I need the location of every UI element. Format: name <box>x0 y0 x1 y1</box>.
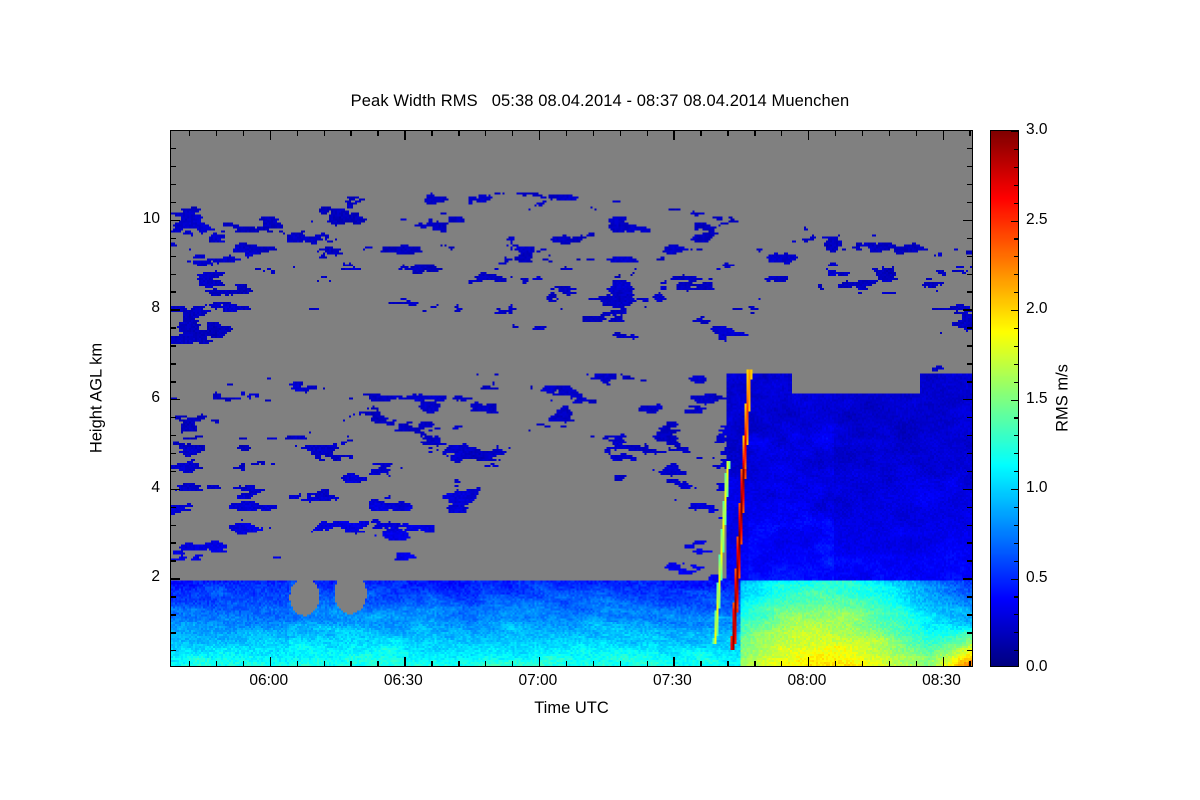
y-tick-label: 6 <box>151 389 160 407</box>
x-minor-tick-top <box>593 131 594 136</box>
y-minor-tick-right <box>967 202 972 203</box>
colorbar[interactable] <box>990 130 1019 667</box>
y-minor-tick <box>171 614 176 615</box>
colorbar-tick-label: 0.5 <box>1026 569 1048 587</box>
x-minor-tick-top <box>916 131 917 136</box>
y-tick-label: 10 <box>143 210 160 228</box>
x-major-tick <box>673 657 674 666</box>
x-tick-label: 07:00 <box>518 672 557 690</box>
x-major-tick <box>943 657 944 666</box>
colorbar-minor-tick <box>1014 185 1018 186</box>
y-minor-tick <box>171 327 176 328</box>
x-tick-label: 08:30 <box>922 672 961 690</box>
x-minor-tick-top <box>862 131 863 136</box>
y-minor-tick-right <box>967 327 972 328</box>
x-minor-tick-top <box>189 131 190 136</box>
x-minor-tick-top <box>647 131 648 136</box>
x-minor-tick-top <box>889 131 890 136</box>
x-minor-tick-top <box>620 131 621 136</box>
colorbar-tick-label: 2.5 <box>1026 211 1048 229</box>
colorbar-minor-tick <box>1014 364 1018 365</box>
y-minor-tick <box>171 381 176 382</box>
colorbar-minor-tick <box>1014 543 1018 544</box>
y-minor-tick-right <box>967 291 972 292</box>
y-minor-tick <box>171 274 176 275</box>
x-minor-tick <box>324 661 325 666</box>
colorbar-minor-tick <box>1014 614 1018 615</box>
x-major-tick <box>404 657 405 666</box>
y-minor-tick <box>171 238 176 239</box>
y-major-tick-right <box>963 578 972 579</box>
colorbar-minor-tick <box>1014 435 1018 436</box>
x-minor-tick-top <box>458 131 459 136</box>
colorbar-major-tick <box>1011 579 1018 580</box>
y-minor-tick-right <box>967 345 972 346</box>
y-minor-tick <box>171 560 176 561</box>
y-axis-label: Height AGL km <box>88 343 107 453</box>
x-minor-tick <box>377 661 378 666</box>
colorbar-minor-tick <box>1014 382 1018 383</box>
y-minor-tick <box>171 471 176 472</box>
colorbar-minor-tick <box>1014 417 1018 418</box>
x-major-tick-top <box>943 131 944 140</box>
x-major-tick-top <box>673 131 674 140</box>
x-minor-tick <box>216 661 217 666</box>
y-minor-tick <box>171 202 176 203</box>
y-minor-tick-right <box>967 614 972 615</box>
y-minor-tick <box>171 650 176 651</box>
y-minor-tick <box>171 345 176 346</box>
y-minor-tick <box>171 542 176 543</box>
y-minor-tick-right <box>967 471 972 472</box>
x-major-tick <box>808 657 809 666</box>
x-minor-tick <box>431 661 432 666</box>
x-minor-tick <box>593 661 594 666</box>
colorbar-minor-tick <box>1014 650 1018 651</box>
colorbar-minor-tick <box>1014 256 1018 257</box>
y-minor-tick <box>171 148 176 149</box>
y-minor-tick-right <box>967 238 972 239</box>
x-minor-tick-top <box>512 131 513 136</box>
x-minor-tick-top <box>485 131 486 136</box>
colorbar-minor-tick <box>1014 525 1018 526</box>
colorbar-minor-tick <box>1014 167 1018 168</box>
colorbar-minor-tick <box>1014 596 1018 597</box>
x-major-tick <box>270 657 271 666</box>
x-minor-tick-top <box>969 131 970 136</box>
heatmap-plot-area[interactable] <box>170 130 973 667</box>
y-minor-tick <box>171 453 176 454</box>
colorbar-minor-tick <box>1014 632 1018 633</box>
y-minor-tick-right <box>967 596 972 597</box>
y-minor-tick-right <box>967 417 972 418</box>
y-minor-tick-right <box>967 453 972 454</box>
y-major-tick-right <box>963 220 972 221</box>
y-major-tick <box>171 489 180 490</box>
x-minor-tick <box>350 661 351 666</box>
x-minor-tick-top <box>700 131 701 136</box>
colorbar-tick-label: 1.0 <box>1026 479 1048 497</box>
colorbar-minor-tick <box>1014 203 1018 204</box>
x-minor-tick <box>916 661 917 666</box>
x-minor-tick-top <box>754 131 755 136</box>
y-major-tick <box>171 220 180 221</box>
y-minor-tick-right <box>967 435 972 436</box>
y-minor-tick-right <box>967 650 972 651</box>
colorbar-minor-tick <box>1014 346 1018 347</box>
x-minor-tick-top <box>216 131 217 136</box>
y-tick-label: 8 <box>151 299 160 317</box>
x-minor-tick <box>969 661 970 666</box>
y-minor-tick-right <box>967 525 972 526</box>
y-minor-tick <box>171 363 176 364</box>
y-minor-tick <box>171 632 176 633</box>
colorbar-minor-tick <box>1014 149 1018 150</box>
colorbar-major-tick <box>1011 221 1018 222</box>
colorbar-minor-tick <box>1014 453 1018 454</box>
page-title: Peak Width RMS 05:38 08.04.2014 - 08:37 … <box>0 92 1200 111</box>
x-minor-tick-top <box>835 131 836 136</box>
colorbar-major-tick <box>1011 400 1018 401</box>
y-major-tick-right <box>963 309 972 310</box>
x-minor-tick <box>458 661 459 666</box>
x-axis-label: Time UTC <box>170 699 973 718</box>
y-minor-tick-right <box>967 256 972 257</box>
y-minor-tick <box>171 417 176 418</box>
x-minor-tick <box>727 661 728 666</box>
x-minor-tick <box>485 661 486 666</box>
x-minor-tick-top <box>431 131 432 136</box>
colorbar-gradient <box>991 131 1018 666</box>
x-tick-label: 06:00 <box>249 672 288 690</box>
y-minor-tick-right <box>967 542 972 543</box>
colorbar-minor-tick <box>1014 274 1018 275</box>
x-minor-tick-top <box>727 131 728 136</box>
x-tick-label: 06:30 <box>384 672 423 690</box>
y-tick-label: 2 <box>151 568 160 586</box>
y-minor-tick-right <box>967 184 972 185</box>
y-minor-tick-right <box>967 507 972 508</box>
y-minor-tick <box>171 256 176 257</box>
x-minor-tick <box>243 661 244 666</box>
colorbar-label: RMS m/s <box>1054 364 1073 432</box>
colorbar-tick-label: 3.0 <box>1026 121 1048 139</box>
y-tick-label: 4 <box>151 479 160 497</box>
x-major-tick-top <box>270 131 271 140</box>
x-major-tick <box>539 657 540 666</box>
y-minor-tick-right <box>967 381 972 382</box>
colorbar-minor-tick <box>1014 471 1018 472</box>
x-minor-tick <box>566 661 567 666</box>
colorbar-tick-label: 1.5 <box>1026 390 1048 408</box>
y-major-tick-right <box>963 399 972 400</box>
colorbar-minor-tick <box>1014 561 1018 562</box>
y-minor-tick <box>171 507 176 508</box>
x-tick-label: 07:30 <box>653 672 692 690</box>
x-tick-label: 08:00 <box>788 672 827 690</box>
y-minor-tick <box>171 435 176 436</box>
colorbar-major-tick <box>1011 310 1018 311</box>
y-minor-tick-right <box>967 560 972 561</box>
x-major-tick-top <box>539 131 540 140</box>
x-minor-tick-top <box>243 131 244 136</box>
colorbar-major-tick <box>1011 131 1018 132</box>
x-minor-tick-top <box>297 131 298 136</box>
y-minor-tick <box>171 291 176 292</box>
colorbar-tick-label: 2.0 <box>1026 300 1048 318</box>
colorbar-major-tick <box>1011 489 1018 490</box>
heatmap-canvas <box>171 131 972 666</box>
y-minor-tick <box>171 184 176 185</box>
x-minor-tick <box>620 661 621 666</box>
colorbar-minor-tick <box>1014 238 1018 239</box>
y-minor-tick-right <box>967 148 972 149</box>
colorbar-minor-tick <box>1014 292 1018 293</box>
y-major-tick <box>171 399 180 400</box>
x-minor-tick-top <box>324 131 325 136</box>
x-minor-tick-top <box>377 131 378 136</box>
x-minor-tick <box>297 661 298 666</box>
x-minor-tick <box>781 661 782 666</box>
y-minor-tick-right <box>967 166 972 167</box>
x-minor-tick <box>862 661 863 666</box>
x-minor-tick-top <box>781 131 782 136</box>
y-major-tick <box>171 578 180 579</box>
y-minor-tick-right <box>967 632 972 633</box>
colorbar-tick-label: 0.0 <box>1026 658 1048 676</box>
x-minor-tick <box>754 661 755 666</box>
y-major-tick-right <box>963 489 972 490</box>
x-minor-tick <box>700 661 701 666</box>
y-minor-tick <box>171 525 176 526</box>
y-major-tick <box>171 309 180 310</box>
y-minor-tick <box>171 596 176 597</box>
x-major-tick-top <box>808 131 809 140</box>
x-minor-tick <box>512 661 513 666</box>
x-minor-tick-top <box>566 131 567 136</box>
x-minor-tick <box>647 661 648 666</box>
x-minor-tick <box>835 661 836 666</box>
x-minor-tick <box>889 661 890 666</box>
x-major-tick-top <box>404 131 405 140</box>
x-minor-tick <box>189 661 190 666</box>
y-minor-tick-right <box>967 274 972 275</box>
y-minor-tick-right <box>967 363 972 364</box>
figure-root: Peak Width RMS 05:38 08.04.2014 - 08:37 … <box>0 0 1200 800</box>
x-minor-tick-top <box>350 131 351 136</box>
colorbar-minor-tick <box>1014 507 1018 508</box>
colorbar-minor-tick <box>1014 328 1018 329</box>
y-minor-tick <box>171 166 176 167</box>
